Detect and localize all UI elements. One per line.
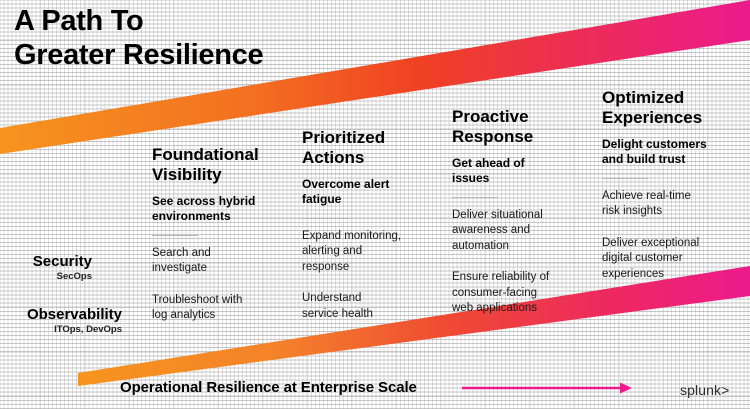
stage-prioritized-actions: Prioritized Actions Overcome alert fatig… [302, 128, 450, 338]
stage-item: Understand service health [302, 291, 450, 322]
stage-foundational-visibility: Foundational Visibility See across hybri… [152, 145, 300, 340]
axis-label-observability-name: Observability [0, 306, 122, 323]
axis-label-observability-sub: ITOps, DevOps [0, 324, 122, 336]
stage-item: Expand monitoring, alerting and response [302, 229, 450, 276]
stage-subtitle: Delight customers and build trust [602, 137, 750, 167]
stage-subtitle: Overcome alert fatigue [302, 177, 450, 207]
stage-divider [302, 218, 348, 219]
stage-subtitle: Get ahead of issues [452, 156, 600, 186]
stage-heading: Proactive Response [452, 107, 600, 148]
stage-heading: Optimized Experiences [602, 88, 750, 129]
stage-subtitle: See across hybrid environments [152, 194, 300, 224]
stage-item: Troubleshoot with log analytics [152, 293, 300, 324]
stage-divider [602, 178, 648, 179]
stage-item: Ensure reliability of consumer-facing we… [452, 270, 600, 317]
splunk-logo: splunk> [680, 382, 729, 398]
progress-arrow [462, 380, 634, 401]
stage-divider [452, 197, 498, 198]
stage-heading: Foundational Visibility [152, 145, 300, 186]
page-title: A Path To Greater Resilience [14, 4, 263, 72]
stage-item: Deliver exceptional digital customer exp… [602, 236, 750, 283]
footer-caption: Operational Resilience at Enterprise Sca… [120, 379, 417, 396]
stage-item: Deliver situational awareness and automa… [452, 208, 600, 255]
stage-proactive-response: Proactive Response Get ahead of issues D… [452, 107, 600, 333]
stage-item: Search and investigate [152, 246, 300, 277]
stage-divider [152, 235, 198, 236]
axis-label-security-sub: SecOps [0, 271, 92, 283]
axis-label-observability: Observability ITOps, DevOps [0, 306, 122, 337]
stage-heading: Prioritized Actions [302, 128, 450, 169]
stage-optimized-experiences: Optimized Experiences Delight customers … [602, 88, 750, 298]
infographic-canvas: A Path To Greater Resilience Security Se… [0, 0, 750, 409]
axis-label-security: Security SecOps [0, 253, 92, 284]
stage-item: Achieve real-time risk insights [602, 189, 750, 220]
axis-label-security-name: Security [0, 253, 92, 270]
